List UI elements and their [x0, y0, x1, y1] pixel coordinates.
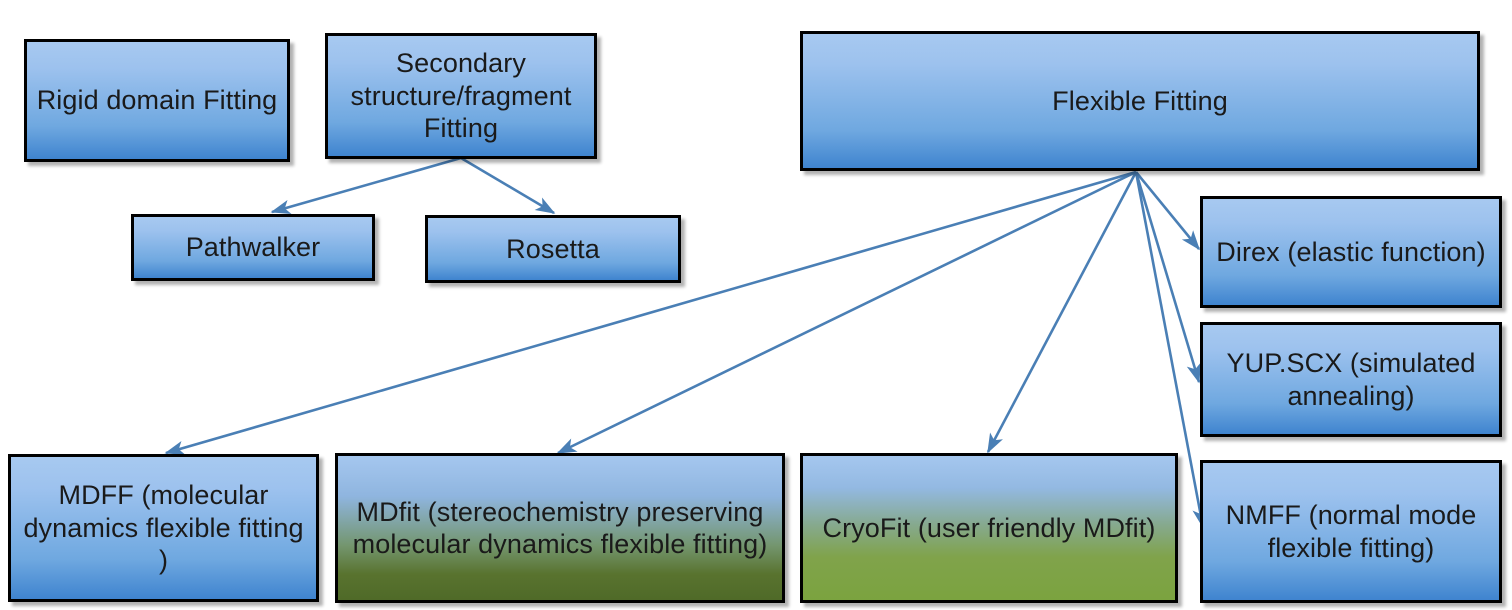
node-label: Rosetta [436, 233, 670, 265]
node-cryofit[interactable]: CryoFit (user friendly MDfit) [800, 453, 1178, 603]
node-label: Rigid domain Fitting [35, 84, 279, 116]
node-direx[interactable]: Direx (elastic function) [1200, 196, 1502, 308]
node-label: YUP.SCX (simulated annealing) [1211, 347, 1491, 412]
connector-flexible-to-cryofit [988, 172, 1136, 452]
diagram-canvas: Rigid domain FittingSecondary structure/… [0, 0, 1512, 610]
node-label: Secondary structure/fragment Fitting [336, 47, 586, 144]
connector-secondary-to-rosetta [461, 158, 554, 213]
node-secondary-structure-fitting[interactable]: Secondary structure/fragment Fitting [325, 33, 597, 159]
connector-flexible-to-yupscx [1136, 172, 1199, 382]
node-label: Pathwalker [142, 231, 364, 263]
node-label: Flexible Fitting [811, 85, 1469, 117]
connector-flexible-to-direx [1136, 172, 1199, 249]
connector-secondary-to-pathwalker [272, 158, 461, 212]
node-rigid-domain-fitting[interactable]: Rigid domain Fitting [24, 39, 290, 162]
node-flexible-fitting[interactable]: Flexible Fitting [800, 31, 1480, 171]
node-label: MDfit (stereochemistry preserving molecu… [346, 496, 774, 561]
node-mdfit[interactable]: MDfit (stereochemistry preserving molecu… [335, 453, 785, 603]
node-nmff[interactable]: NMFF (normal mode flexible fitting) [1200, 460, 1502, 603]
node-pathwalker[interactable]: Pathwalker [131, 214, 375, 281]
node-label: CryoFit (user friendly MDfit) [811, 512, 1167, 544]
node-mdff[interactable]: MDFF (molecular dynamics flexible fittin… [8, 454, 319, 602]
node-label: Direx (elastic function) [1211, 236, 1491, 268]
node-label: NMFF (normal mode flexible fitting) [1211, 499, 1491, 564]
node-rosetta[interactable]: Rosetta [425, 215, 681, 283]
node-label: MDFF (molecular dynamics flexible fittin… [19, 479, 308, 576]
node-yup-scx[interactable]: YUP.SCX (simulated annealing) [1200, 322, 1502, 437]
